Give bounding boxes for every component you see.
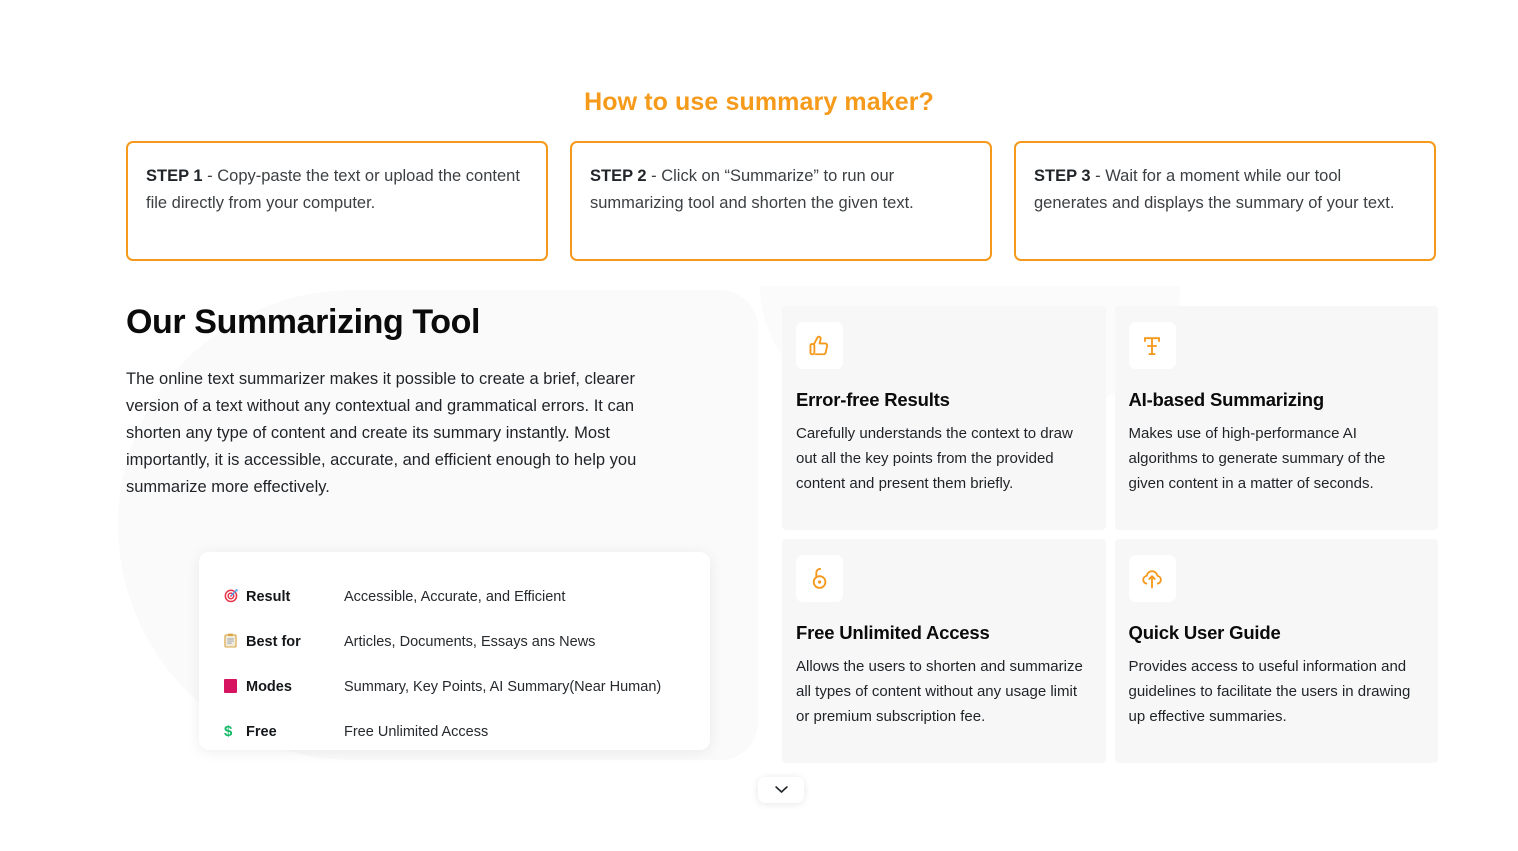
feature-title-free-access: Free Unlimited Access bbox=[796, 622, 1084, 644]
feature-title-user-guide: Quick User Guide bbox=[1129, 622, 1417, 644]
step-1-body: - Copy-paste the text or upload the cont… bbox=[146, 167, 520, 212]
tool-description: The online text summarizer makes it poss… bbox=[126, 366, 638, 501]
feature-grid: Error-free Results Carefully understands… bbox=[782, 306, 1438, 763]
unlock-icon bbox=[796, 555, 843, 602]
step-2-label: STEP 2 bbox=[590, 167, 647, 185]
step-1-text: STEP 1 - Copy-paste the text or upload t… bbox=[146, 163, 528, 217]
spec-row-free: $ Free Free Unlimited Access bbox=[199, 709, 710, 754]
feature-title-error-free: Error-free Results bbox=[796, 389, 1084, 411]
spec-row-result: Result Accessible, Accurate, and Efficie… bbox=[199, 574, 710, 619]
spec-key-best-for: Best for bbox=[246, 634, 344, 650]
spec-row-best-for: Best for Articles, Documents, Essays ans… bbox=[199, 619, 710, 664]
thumbs-up-icon bbox=[796, 322, 843, 369]
cloud-upload-icon bbox=[1129, 555, 1176, 602]
spec-value-result: Accessible, Accurate, and Efficient bbox=[344, 589, 565, 605]
steps-row: STEP 1 - Copy-paste the text or upload t… bbox=[126, 141, 1436, 261]
dollar-icon: $ bbox=[224, 724, 246, 739]
step-3-label: STEP 3 bbox=[1034, 167, 1091, 185]
feature-card-user-guide: Quick User Guide Provides access to usef… bbox=[1115, 539, 1439, 763]
spec-value-modes: Summary, Key Points, AI Summary(Near Hum… bbox=[344, 679, 661, 695]
tool-intro: Our Summarizing Tool The online text sum… bbox=[126, 300, 746, 501]
target-icon bbox=[224, 588, 246, 606]
step-2-text: STEP 2 - Click on “Summarize” to run our… bbox=[590, 163, 972, 217]
step-card-2: STEP 2 - Click on “Summarize” to run our… bbox=[570, 141, 992, 261]
step-card-3: STEP 3 - Wait for a moment while our too… bbox=[1014, 141, 1436, 261]
step-card-1: STEP 1 - Copy-paste the text or upload t… bbox=[126, 141, 548, 261]
howto-title: How to use summary maker? bbox=[0, 88, 1518, 117]
feature-card-free-access: Free Unlimited Access Allows the users t… bbox=[782, 539, 1106, 763]
text-format-icon bbox=[1129, 322, 1176, 369]
spec-value-free: Free Unlimited Access bbox=[344, 724, 488, 740]
feature-desc-user-guide: Provides access to useful information an… bbox=[1129, 654, 1417, 729]
square-icon bbox=[224, 679, 246, 694]
spec-value-best-for: Articles, Documents, Essays ans News bbox=[344, 634, 595, 650]
step-3-text: STEP 3 - Wait for a moment while our too… bbox=[1034, 163, 1416, 217]
chevron-down-icon bbox=[774, 781, 789, 799]
clipboard-icon bbox=[224, 633, 246, 651]
feature-desc-ai-based: Makes use of high-performance AI algorit… bbox=[1129, 421, 1417, 496]
feature-card-ai-based: AI-based Summarizing Makes use of high-p… bbox=[1115, 306, 1439, 530]
spec-key-result: Result bbox=[246, 589, 344, 605]
feature-title-ai-based: AI-based Summarizing bbox=[1129, 389, 1417, 411]
spec-row-modes: Modes Summary, Key Points, AI Summary(Ne… bbox=[199, 664, 710, 709]
feature-desc-free-access: Allows the users to shorten and summariz… bbox=[796, 654, 1084, 729]
spec-key-free: Free bbox=[246, 724, 344, 740]
spec-key-modes: Modes bbox=[246, 679, 344, 695]
tool-spec-card: Result Accessible, Accurate, and Efficie… bbox=[199, 552, 710, 750]
scroll-down-button[interactable] bbox=[758, 777, 804, 803]
step-1-label: STEP 1 bbox=[146, 167, 203, 185]
feature-card-error-free: Error-free Results Carefully understands… bbox=[782, 306, 1106, 530]
feature-desc-error-free: Carefully understands the context to dra… bbox=[796, 421, 1084, 496]
page-title: Our Summarizing Tool bbox=[126, 300, 746, 344]
